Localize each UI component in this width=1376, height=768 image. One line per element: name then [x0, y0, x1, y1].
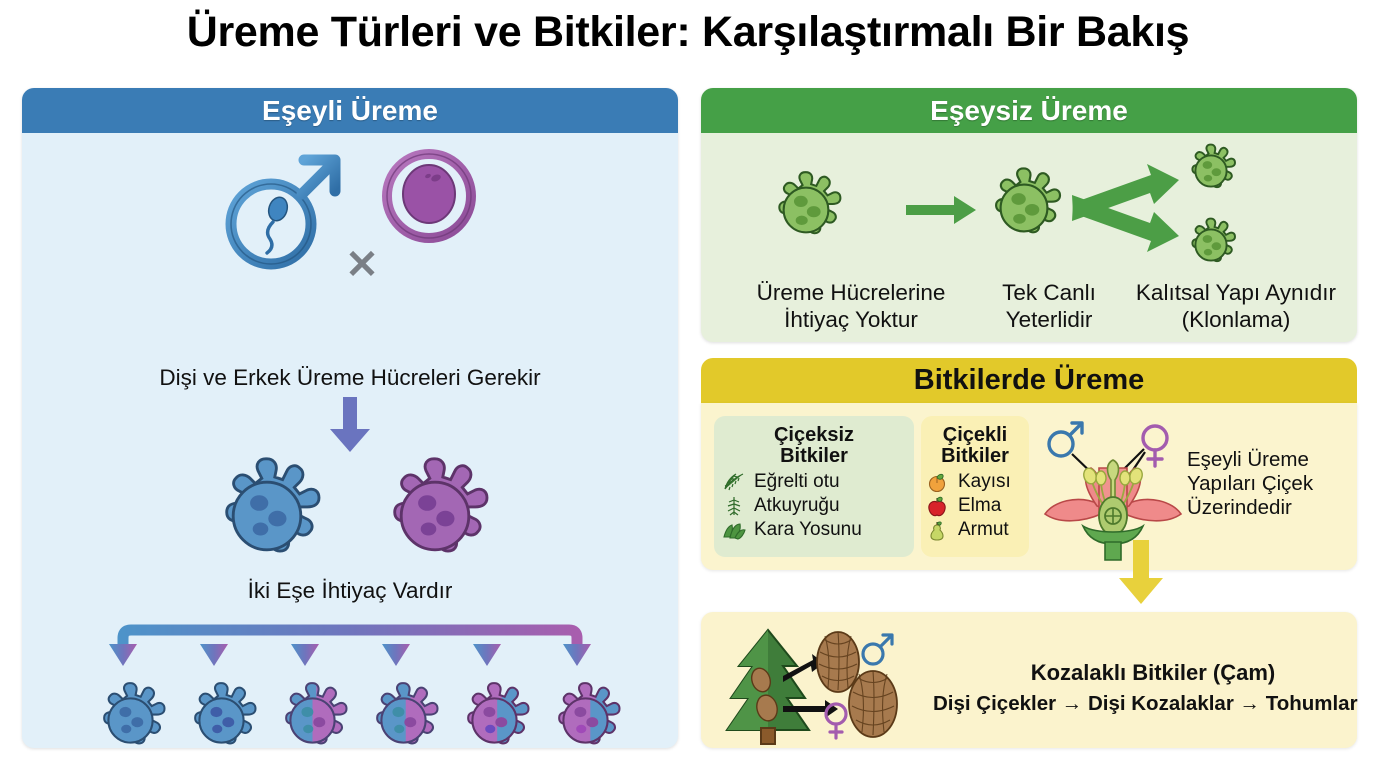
nonflowering-list: Eğrelti otu Atkuyruğu: [714, 471, 914, 541]
flowering-item-label: Elma: [958, 496, 1001, 516]
horsetail-icon: [722, 495, 748, 517]
nonflowering-item-label: Kara Yosunu: [754, 520, 862, 540]
male-symbol-tiny-icon: [863, 635, 892, 664]
caption-no-gametes: Üreme Hücrelerine İhtiyaç Yoktur: [731, 280, 971, 333]
panel-sexual-header: Eşeyli Üreme: [22, 88, 678, 133]
list-item: Elma: [926, 495, 1029, 517]
fern-icon: [722, 471, 748, 493]
plants-lower-section: Kozalaklı Bitkiler (Çam) Dişi Çiçekler →…: [701, 612, 1357, 748]
male-cone-icon: [817, 632, 859, 692]
nonflowering-item-label: Eğrelti otu: [754, 472, 840, 492]
list-item: Eğrelti otu: [722, 471, 914, 493]
parent-virus-female-icon: [370, 451, 500, 581]
caption-flower-structure: Eşeyli Üreme Yapıları Çiçek Üzerindedir: [1187, 448, 1339, 519]
conifer-diagram-icon: [713, 618, 928, 746]
pine-tree-icon: [727, 630, 809, 744]
list-item: Armut: [926, 519, 1029, 541]
apricot-icon: [926, 471, 952, 493]
female-symbol-icon: [372, 134, 502, 284]
infographic-root: Üreme Türleri ve Bitkiler: Karşılaştırma…: [0, 0, 1376, 768]
male-symbol-icon: [218, 136, 348, 276]
nonflowering-item-label: Atkuyruğu: [754, 496, 840, 516]
flowering-title: Çiçekli Bitkiler: [921, 416, 1029, 467]
offspring-viruses-row: [78, 678, 623, 748]
caption-cloning: Kalıtsal Yapı Aynıdır (Klonlama): [1111, 280, 1357, 333]
pear-icon: [926, 519, 952, 541]
panel-plants-header: Bitkilerde Üreme: [701, 358, 1357, 403]
female-symbol-small-icon: [1143, 426, 1167, 466]
panel-asexual-reproduction: Eşeysiz Üreme: [701, 88, 1357, 342]
caption-two-mates: İki Eşe İhtiyaç Vardır: [22, 578, 678, 605]
list-item: Kayısı: [926, 471, 1029, 493]
conifer-flow-text: Dişi Çiçekler → Dişi Kozalaklar → Tohuml…: [933, 692, 1353, 716]
flowering-item-label: Kayısı: [958, 472, 1011, 492]
down-arrow-icon: [325, 397, 375, 453]
nonflowering-title: Çiçeksiz Bitkiler: [714, 416, 914, 467]
flowering-item-label: Armut: [958, 520, 1009, 540]
list-item: Kara Yosunu: [722, 519, 914, 541]
male-symbol-small-icon: [1049, 423, 1082, 456]
panel-sexual-reproduction: Eşeyli Üreme ✕: [22, 88, 678, 748]
plants-upper-section: Çiçeksiz Bitkiler Eğrelti otu: [701, 403, 1357, 570]
flower-structure-box: Eşeyli Üreme Yapıları Çiçek Üzerindedir: [1037, 408, 1347, 566]
page-title: Üreme Türleri ve Bitkiler: Karşılaştırma…: [0, 8, 1376, 57]
nonflowering-plants-box: Çiçeksiz Bitkiler Eğrelti otu: [714, 416, 914, 557]
branching-arrows-icon: [78, 608, 623, 678]
flowering-plants-box: Çiçekli Bitkiler Kayısı: [921, 416, 1029, 557]
flowering-list: Kayısı Elma: [921, 471, 1029, 541]
yellow-down-arrow-icon: [1115, 540, 1167, 606]
apple-icon: [926, 495, 952, 517]
moss-icon: [722, 519, 748, 541]
panel-plant-reproduction: Bitkilerde Üreme Çiçeksiz Bitkiler: [701, 358, 1357, 748]
female-cone-icon: [849, 671, 897, 737]
parent-virus-male-icon: [202, 451, 332, 581]
panel-asexual-header: Eşeysiz Üreme: [701, 88, 1357, 133]
caption-gametes-needed: Dişi ve Erkek Üreme Hücreleri Gerekir: [22, 365, 678, 392]
list-item: Atkuyruğu: [722, 495, 914, 517]
gamete-symbols-row: ✕: [22, 140, 678, 270]
asexual-cloning-diagram: [701, 133, 1357, 283]
conifer-title: Kozalaklı Bitkiler (Çam): [957, 660, 1349, 686]
